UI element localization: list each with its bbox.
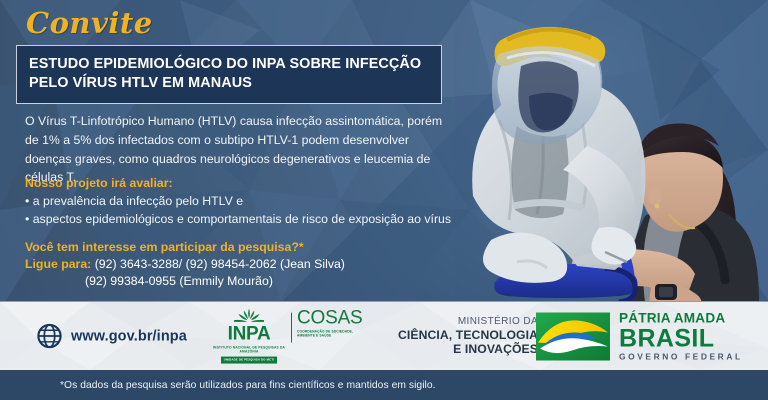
ministry-line-1: MINISTÉRIO DA	[398, 316, 538, 328]
ministry-line-2: CIÊNCIA, TECNOLOGIA	[398, 327, 538, 341]
disclaimer-bar: *Os dados da pesquisa serão utilizados p…	[0, 370, 768, 400]
gov-website-link[interactable]: www.gov.br/inpa	[36, 323, 187, 350]
logo-divider	[291, 313, 292, 343]
call-label: Ligue para:	[25, 257, 91, 271]
victoria-regia-plant-icon	[234, 309, 264, 325]
photo-blood-collection	[455, 0, 768, 302]
cosas-acronym: COSAS	[297, 309, 363, 328]
list-item: • a prevalência da infecção pelo HTLV e	[25, 192, 455, 210]
eyebrow-convite: Convite	[26, 6, 153, 40]
inpa-acronym: INPA	[228, 325, 271, 344]
evaluate-bullet-list: • a prevalência da infecção pelo HTLV e …	[25, 192, 455, 229]
brazil-flag-icon	[536, 312, 610, 360]
inpa-badge: UNIDADE DE PESQUISA DO MCTI	[221, 356, 278, 363]
brasil-line-2: BRASIL	[619, 326, 743, 350]
page-title-line-2: PELO VÍRUS HTLV EM MANAUS	[29, 74, 429, 93]
globe-icon	[36, 323, 63, 350]
poster-content: Convite ESTUDO EPIDEMIOLÓGICO DO INPA SO…	[0, 0, 470, 300]
ministry-logo: MINISTÉRIO DA CIÊNCIA, TECNOLOGIA E INOV…	[398, 316, 538, 356]
page-title-line-1: ESTUDO EPIDEMIOLÓGICO DO INPA SOBRE INFE…	[29, 55, 429, 74]
cosas-logo: COSAS COORDENAÇÃO DE SOCIEDADE, AMBIENTE…	[297, 309, 359, 339]
evaluate-heading: Nosso projeto irá avaliar:	[25, 176, 173, 190]
brasil-line-3: GOVERNO FEDERAL	[619, 352, 743, 360]
brasil-line-1: PÁTRIA AMADA	[619, 312, 743, 326]
phone-line-2: (92) 99384-0955 (Emmily Mourão)	[25, 273, 455, 290]
inpa-cosas-logo: INPA INSTITUTO NACIONAL DE PESQUISAS DA …	[212, 309, 359, 364]
footer-logo-strip: www.gov.br/inpa	[0, 301, 768, 371]
cosas-subtitle: COORDENAÇÃO DE SOCIEDADE, AMBIENTE E SAÚ…	[297, 330, 359, 339]
phone-numbers-2[interactable]: (92) 99384-0955 (Emmily Mourão)	[85, 274, 273, 288]
cta-block: Você tem interesse em participar da pesq…	[25, 240, 455, 291]
title-box: ESTUDO EPIDEMIOLÓGICO DO INPA SOBRE INFE…	[16, 45, 442, 104]
list-item: • aspectos epidemiológicos e comportamen…	[25, 210, 455, 228]
inpa-logo: INPA INSTITUTO NACIONAL DE PESQUISAS DA …	[212, 309, 286, 364]
disclaimer-text: *Os dados da pesquisa serão utilizados p…	[0, 380, 436, 391]
ministry-line-3: E INOVAÇÕES	[398, 342, 538, 356]
phone-numbers-1[interactable]: (92) 3643-3288/ (92) 98454-2062 (Jean Si…	[95, 257, 345, 271]
gov-website-url: www.gov.br/inpa	[71, 328, 187, 344]
poster-root: Convite ESTUDO EPIDEMIOLÓGICO DO INPA SO…	[0, 0, 768, 400]
inpa-subtitle: INSTITUTO NACIONAL DE PESQUISAS DA AMAZÔ…	[212, 346, 286, 355]
phone-line-1: Ligue para: (92) 3643-3288/ (92) 98454-2…	[25, 256, 455, 273]
cta-question: Você tem interesse em participar da pesq…	[25, 240, 455, 254]
brasil-government-logo: PÁTRIA AMADA BRASIL GOVERNO FEDERAL	[536, 312, 743, 361]
